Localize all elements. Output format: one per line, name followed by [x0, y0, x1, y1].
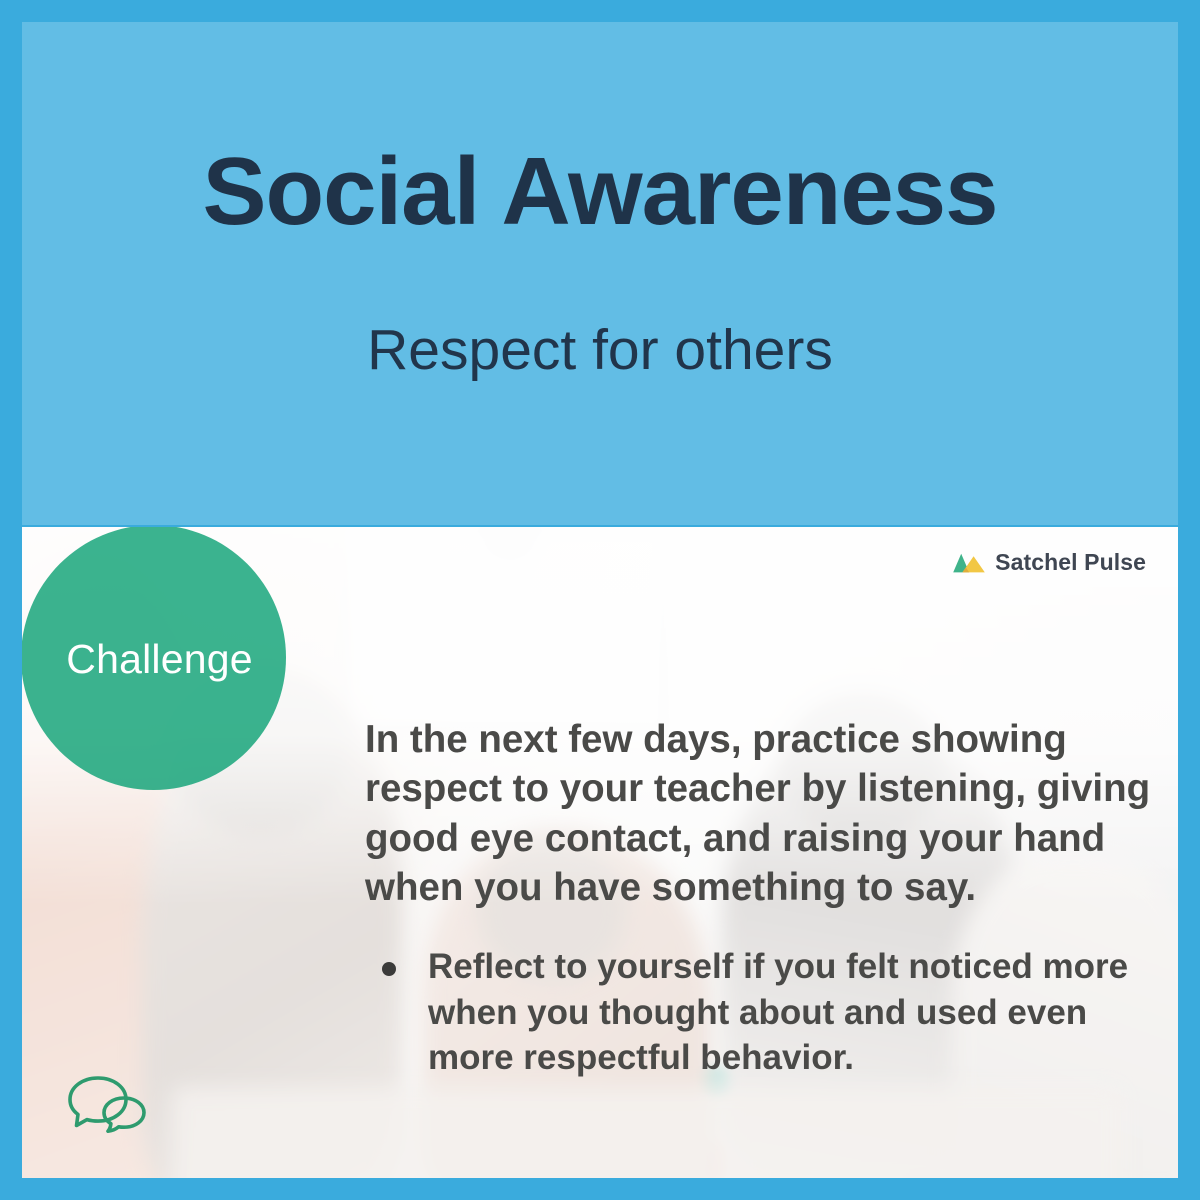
list-item-label: Reflect to yourself if you felt noticed …	[428, 947, 1128, 1077]
challenge-bullet-list: Reflect to yourself if you felt noticed …	[365, 944, 1160, 1081]
header-panel: Social Awareness Respect for others	[22, 22, 1178, 525]
satchel-pulse-mountains-icon	[952, 552, 986, 574]
challenge-badge: Challenge	[22, 527, 286, 790]
bullet-dot-icon	[382, 962, 396, 976]
brand-logo: Satchel Pulse	[952, 549, 1146, 576]
list-item: Reflect to yourself if you felt noticed …	[365, 944, 1160, 1081]
challenge-description: In the next few days, practice showing r…	[365, 715, 1160, 912]
slide-canvas: Social Awareness Respect for others	[0, 0, 1200, 1200]
speech-bubbles-icon	[62, 1070, 158, 1140]
challenge-badge-label: Challenge	[66, 636, 252, 683]
content-panel: Challenge Satchel Pulse In the next few …	[22, 527, 1178, 1178]
brand-name-label: Satchel Pulse	[995, 549, 1146, 576]
page-title: Social Awareness	[202, 142, 997, 243]
page-subtitle: Respect for others	[367, 317, 833, 383]
challenge-copy: In the next few days, practice showing r…	[365, 715, 1160, 1081]
